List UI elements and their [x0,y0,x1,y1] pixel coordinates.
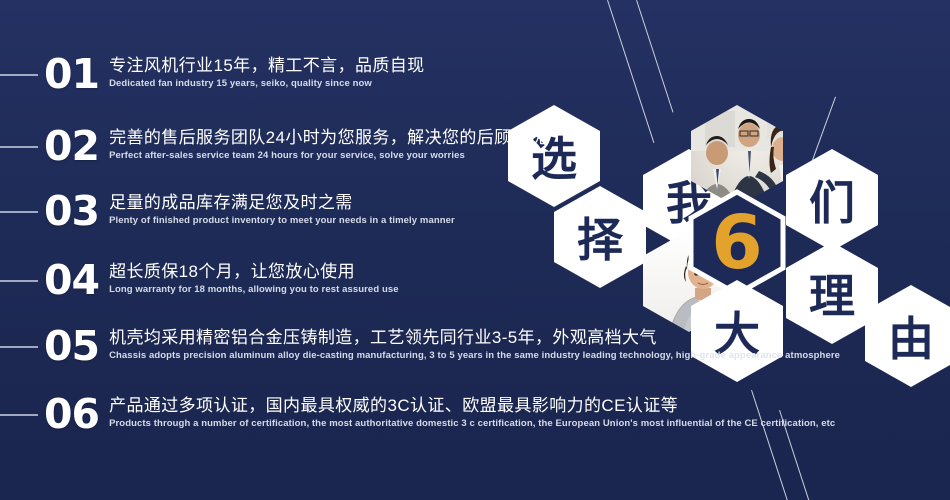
reason-title-en: Dedicated fan industry 15 years, seiko, … [109,78,425,90]
reason-dash [0,74,38,76]
reason-dash [0,414,38,416]
reason-title-cn: 超长质保18个月，让您放心使用 [109,261,399,282]
reason-title-cn: 产品通过多项认证，国内最具权威的3C认证、欧盟最具影响力的CE认证等 [109,395,835,416]
reason-title-en: Products through a number of certificati… [109,418,835,430]
reason-title-en: Chassis adopts precision aluminum alloy … [109,350,840,362]
reason-number: 05 [44,326,99,367]
reason-number: 02 [44,126,99,167]
reason-dash [0,211,38,213]
reason-list: 01 专注风机行业15年，精工不言，品质自现 Dedicated fan ind… [0,0,700,500]
reason-item-01[interactable]: 01 专注风机行业15年，精工不言，品质自现 Dedicated fan ind… [0,54,425,95]
reason-dash [0,280,38,282]
reason-number: 04 [44,260,99,301]
reason-item-04[interactable]: 04 超长质保18个月，让您放心使用 Long warranty for 18 … [0,260,399,301]
reason-item-06[interactable]: 06 产品通过多项认证，国内最具权威的3C认证、欧盟最具影响力的CE认证等 Pr… [0,394,835,435]
reason-title-cn: 机壳均采用精密铝合金压铸制造，工艺领先同行业3-5年，外观高档大气 [109,327,840,348]
hexagon-men[interactable]: 们 [783,147,881,253]
reason-title-en: Plenty of finished product inventory to … [109,215,455,227]
reason-title-cn: 专注风机行业15年，精工不言，品质自现 [109,55,425,76]
reason-number: 06 [44,394,99,435]
reason-item-02[interactable]: 02 完善的售后服务团队24小时为您服务，解决您的后顾之忧 Perfect af… [0,126,546,167]
reason-dash [0,146,38,148]
reason-number: 03 [44,191,99,232]
reason-title-en: Long warranty for 18 months, allowing yo… [109,284,399,296]
reason-title-cn: 足量的成品库存满足您及时之需 [109,192,455,213]
reason-dash [0,346,38,348]
reason-title-en: Perfect after-sales service team 24 hour… [109,150,546,162]
hexagon-you[interactable]: 由 [862,283,950,389]
reason-item-05[interactable]: 05 机壳均采用精密铝合金压铸制造，工艺领先同行业3-5年，外观高档大气 Cha… [0,326,840,367]
reason-number: 01 [44,54,99,95]
reason-title-cn: 完善的售后服务团队24小时为您服务，解决您的后顾之忧 [109,127,546,148]
promo-banner: 选 择 我 [0,0,950,500]
reason-item-03[interactable]: 03 足量的成品库存满足您及时之需 Plenty of finished pro… [0,191,455,232]
